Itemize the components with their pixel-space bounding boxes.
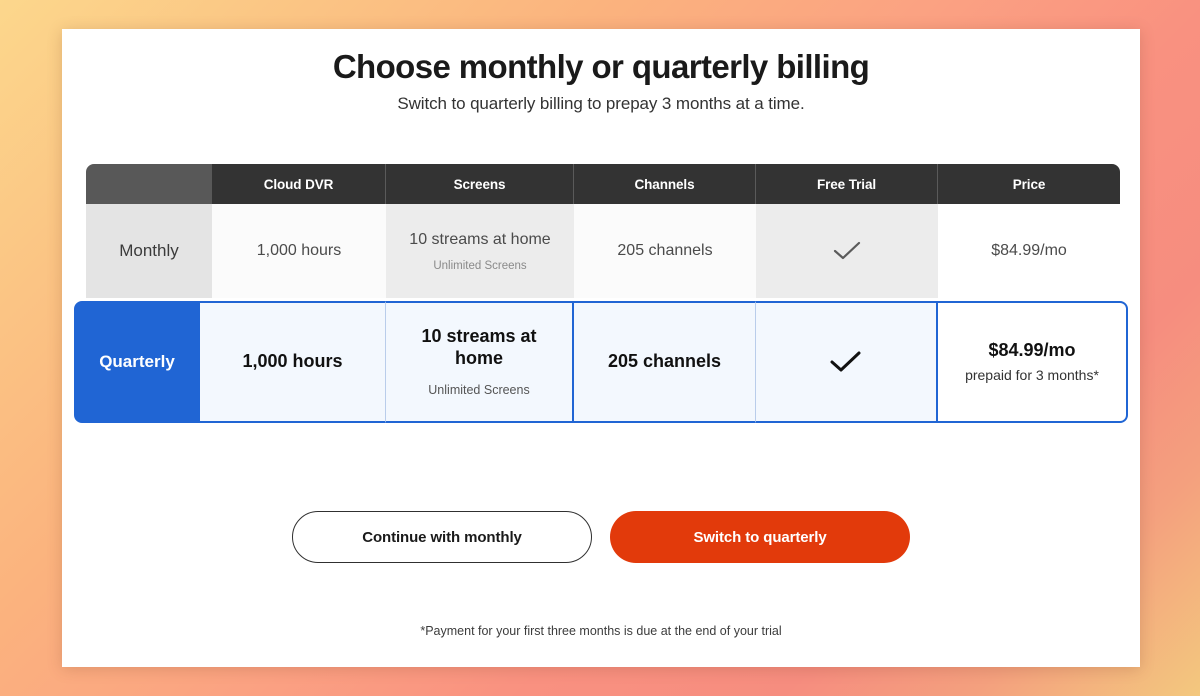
quarterly-channels: 205 channels — [574, 301, 756, 423]
continue-with-monthly-button[interactable]: Continue with monthly — [292, 511, 592, 563]
quarterly-price-note: prepaid for 3 months* — [965, 367, 1099, 384]
monthly-screens-value: 10 streams at home — [409, 231, 550, 249]
check-icon — [832, 240, 862, 262]
table-header-free-trial: Free Trial — [756, 164, 938, 204]
plan-comparison-table: Cloud DVR Screens Channels Free Trial Pr… — [74, 164, 1128, 423]
table-row-monthly[interactable]: Monthly 1,000 hours 10 streams at home U… — [86, 204, 1140, 298]
table-row-quarterly[interactable]: Quarterly 1,000 hours 10 streams at home… — [74, 301, 1128, 423]
action-buttons: Continue with monthly Switch to quarterl… — [62, 511, 1140, 563]
quarterly-free-trial — [756, 301, 938, 423]
table-header-channels: Channels — [574, 164, 756, 204]
check-icon — [829, 350, 863, 374]
table-header-cloud-dvr: Cloud DVR — [212, 164, 386, 204]
monthly-screens: 10 streams at home Unlimited Screens — [386, 204, 574, 298]
monthly-price: $84.99/mo — [938, 204, 1120, 298]
table-header-screens: Screens — [386, 164, 574, 204]
plan-name-quarterly: Quarterly — [74, 301, 200, 423]
switch-to-quarterly-button[interactable]: Switch to quarterly — [610, 511, 910, 563]
quarterly-screens-note: Unlimited Screens — [428, 383, 529, 398]
quarterly-screens: 10 streams at home Unlimited Screens — [386, 301, 574, 423]
billing-card: Choose monthly or quarterly billing Swit… — [62, 29, 1140, 667]
card-header: Choose monthly or quarterly billing Swit… — [62, 29, 1140, 114]
plan-name-monthly: Monthly — [86, 204, 212, 298]
monthly-screens-note: Unlimited Screens — [433, 260, 526, 272]
quarterly-price-value: $84.99/mo — [988, 340, 1075, 362]
table-header-row: Cloud DVR Screens Channels Free Trial Pr… — [86, 164, 1140, 204]
monthly-free-trial — [756, 204, 938, 298]
table-header-blank — [86, 164, 212, 204]
monthly-channels: 205 channels — [574, 204, 756, 298]
footnote-text: *Payment for your first three months is … — [62, 624, 1140, 638]
monthly-cloud-dvr: 1,000 hours — [212, 204, 386, 298]
quarterly-price: $84.99/mo prepaid for 3 months* — [938, 301, 1128, 423]
table-header-price: Price — [938, 164, 1120, 204]
quarterly-screens-value: 10 streams at home — [396, 326, 562, 369]
page-title: Choose monthly or quarterly billing — [62, 46, 1140, 87]
quarterly-cloud-dvr: 1,000 hours — [200, 301, 386, 423]
page-subtitle: Switch to quarterly billing to prepay 3 … — [62, 94, 1140, 114]
